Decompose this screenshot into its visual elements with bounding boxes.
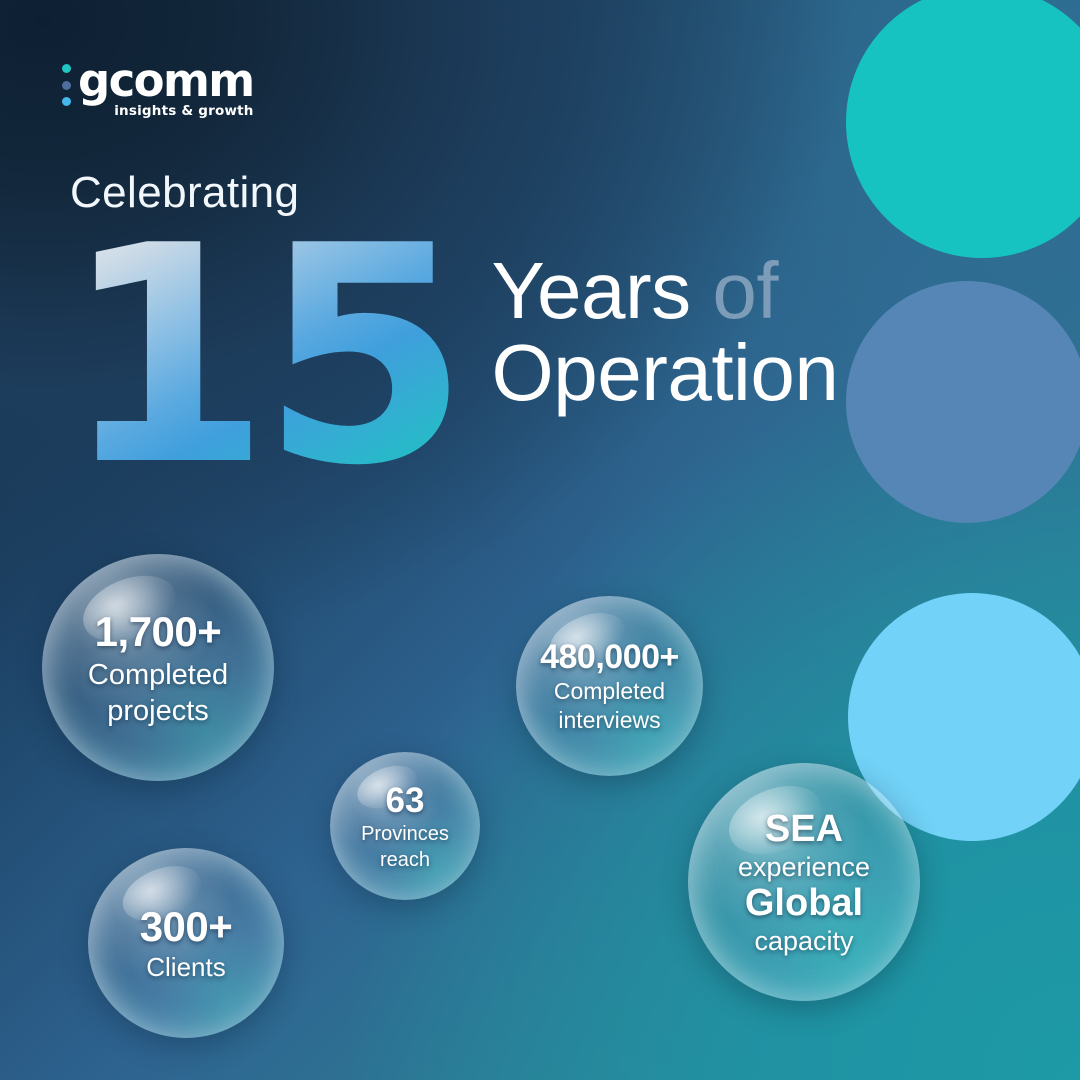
headline-line-1: Years of [491, 250, 838, 332]
stat-label-interviews-line2: interviews [540, 708, 679, 734]
logo-text-group: gcomm insights & growth [78, 60, 254, 119]
stat-value-provinces: 63 [361, 781, 449, 820]
stat-sea-global: Global [738, 882, 870, 925]
poster-canvas: gcomm insights & growth Celebrating 15 Y… [0, 0, 1080, 1080]
decor-circle-teal [846, 0, 1080, 258]
anniversary-number: 15 [62, 228, 459, 486]
logo-dot-indigo-icon [62, 81, 71, 90]
stat-bubble-interviews: 480,000+ Completed interviews [516, 596, 703, 776]
stat-label-provinces-line2: reach [361, 849, 449, 871]
stat-label-projects-line2: projects [88, 695, 228, 727]
headline-line-2: Operation [491, 332, 838, 414]
stat-content-sea: SEA experience Global capacity [738, 808, 870, 956]
stat-bubble-provinces: 63 Provinces reach [330, 752, 480, 900]
stat-bubble-projects: 1,700+ Completed projects [42, 554, 274, 781]
logo-dots-icon [62, 60, 71, 106]
logo-tagline: insights & growth [78, 103, 254, 119]
stat-value-clients: 300+ [140, 903, 233, 950]
stat-sea-experience: experience [738, 852, 870, 882]
stat-bubble-clients: 300+ Clients [88, 848, 284, 1038]
stat-label-projects-line1: Completed [88, 659, 228, 691]
headline-text-block: Years of Operation [491, 228, 838, 413]
stat-content-projects: 1,700+ Completed projects [88, 608, 228, 728]
headline-group: 15 Years of Operation [62, 228, 838, 486]
stat-bubble-sea: SEA experience Global capacity [688, 763, 920, 1001]
stat-label-interviews-line1: Completed [540, 679, 679, 705]
stat-sea-region: SEA [738, 808, 870, 851]
stat-label-clients-line1: Clients [140, 953, 233, 982]
headline-of-word: of [712, 246, 778, 335]
logo-dot-teal-icon [62, 64, 71, 73]
headline-years-word: Years [491, 246, 690, 335]
stat-sea-capacity: capacity [738, 926, 870, 956]
decor-circle-steel [846, 281, 1080, 523]
stat-label-provinces-line1: Provinces [361, 823, 449, 845]
stat-content-provinces: 63 Provinces reach [361, 781, 449, 871]
logo-wordmark: gcomm [78, 60, 254, 101]
logo-dot-blue-icon [62, 97, 71, 106]
stat-content-clients: 300+ Clients [140, 903, 233, 982]
brand-logo: gcomm insights & growth [62, 60, 254, 119]
stat-content-interviews: 480,000+ Completed interviews [540, 638, 679, 734]
stat-value-projects: 1,700+ [88, 608, 228, 655]
stat-value-interviews: 480,000+ [540, 638, 679, 676]
